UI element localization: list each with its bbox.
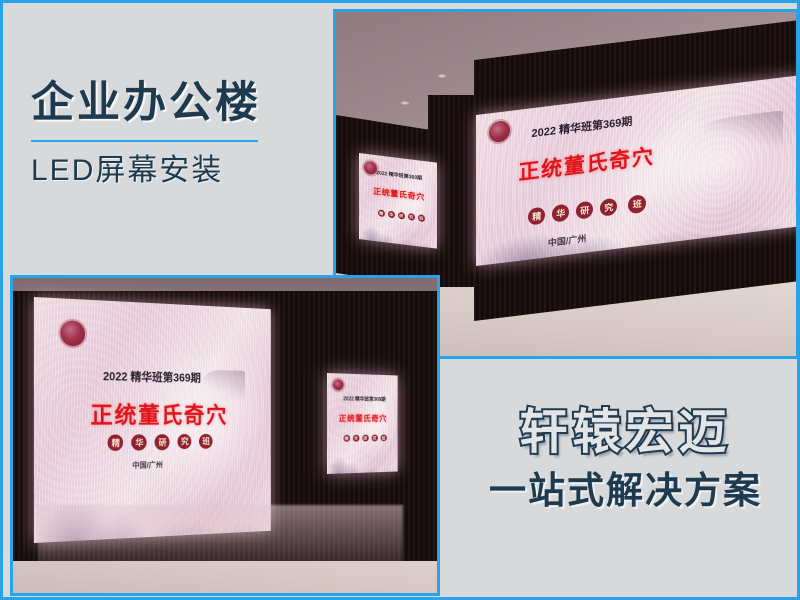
floor-reflection <box>38 505 403 593</box>
led-pill: 究 <box>178 433 192 448</box>
led-pill: 华 <box>553 204 570 223</box>
ink-mountains-graphic <box>327 421 398 473</box>
led-pill: 究 <box>371 435 377 442</box>
led-pill: 华 <box>352 435 359 442</box>
led-pill: 究 <box>408 213 415 221</box>
brand-tagline: 一站式解决方案 <box>458 471 793 512</box>
led-screen-far: 2022 精华班第369期 正统董氏奇穴 精 华 研 究 班 <box>327 373 398 474</box>
xuanyuan-emblem-icon <box>60 320 85 346</box>
led-pill: 研 <box>362 435 368 442</box>
ink-mountains-graphic <box>359 194 437 248</box>
led-pill: 精 <box>378 210 385 218</box>
led-line-1: 2022 精华班第369期 <box>103 367 201 385</box>
headline-divider <box>31 140 258 142</box>
led-pill: 华 <box>132 434 147 450</box>
led-line-1: 2022 精华班第369期 <box>343 395 385 403</box>
brand-name: 轩辕宏迈 <box>458 407 793 459</box>
led-pill: 研 <box>577 201 594 220</box>
brand-block: 轩辕宏迈 一站式解决方案 <box>458 407 793 512</box>
led-pill: 研 <box>398 212 405 220</box>
photo-corridor-led-wall-front: 2022 精华班第369期 正统董氏奇穴 精 华 研 究 班 中国/广州 202… <box>10 275 440 596</box>
led-pill: 华 <box>388 211 395 219</box>
led-pill-row: 精 华 研 究 班 <box>108 433 213 450</box>
led-pill: 精 <box>529 207 546 226</box>
led-pill: 班 <box>418 214 425 222</box>
photo-scene: 2022 精华班第369期 正统董氏奇穴 精 华 研 究 班 中国/广州 202… <box>13 278 437 593</box>
led-pill-row: 精 华 研 究 班 <box>343 434 387 441</box>
page-title: 企业办公楼 <box>31 81 303 126</box>
led-pill: 研 <box>155 434 170 450</box>
led-pill: 究 <box>601 198 618 217</box>
led-line-3: 中国/广州 <box>133 459 164 470</box>
led-pill: 班 <box>380 434 386 441</box>
poster-canvas: 企业办公楼 LED屏幕安装 2022 精华班第369期 正统董氏奇穴 <box>0 0 800 600</box>
ceiling-light-icon <box>437 74 447 78</box>
led-pill: 班 <box>629 194 647 214</box>
led-pill: 班 <box>200 433 214 448</box>
xuanyuan-emblem-icon <box>333 379 344 390</box>
headline-block: 企业办公楼 LED屏幕安装 <box>31 81 303 187</box>
page-subtitle: LED屏幕安装 <box>31 154 303 187</box>
led-pill: 精 <box>343 435 350 442</box>
led-line-2: 正统董氏奇穴 <box>339 413 387 424</box>
led-pill: 精 <box>108 434 124 451</box>
led-line-2: 正统董氏奇穴 <box>91 396 228 430</box>
led-screen-far: 2022 精华班第369期 正统董氏奇穴 精 华 研 究 班 <box>359 153 437 249</box>
